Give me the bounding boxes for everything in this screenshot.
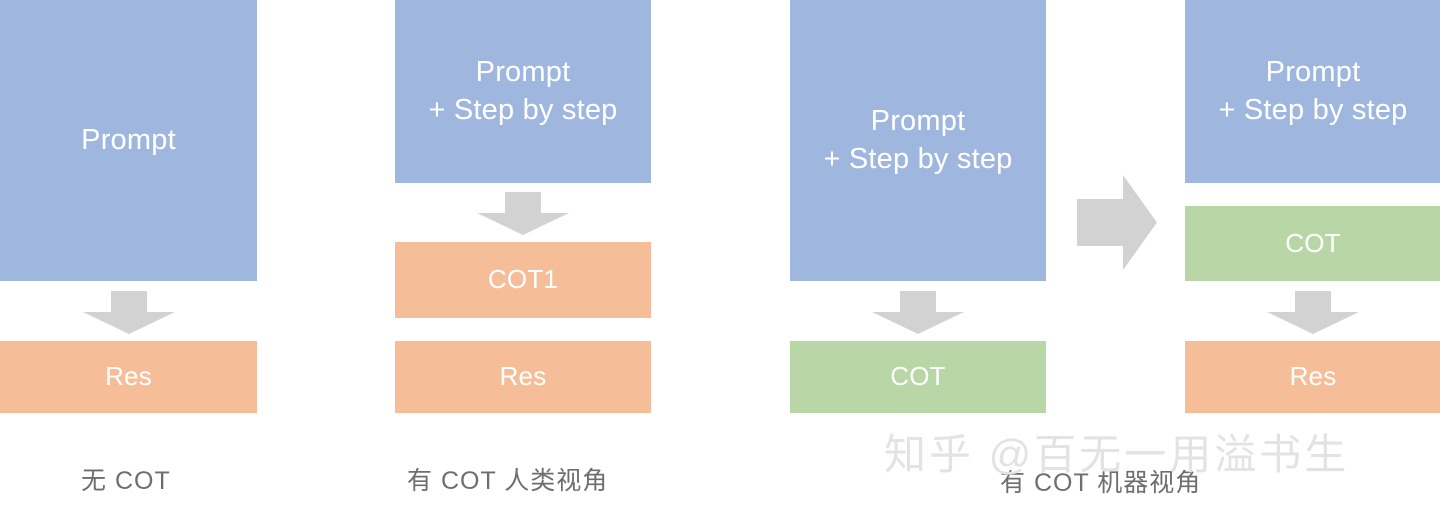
block-cot-machine-stage1-cot: COT [790,341,1046,413]
block-label: Prompt + Step by step [790,103,1046,177]
block-label: Res [0,360,257,393]
block-label: COT [790,360,1046,393]
arrow-cot-machine-stage1-prompt-to-cot [872,291,964,334]
block-cot-human-cot1: COT1 [395,242,651,318]
block-cot-human-prompt: Prompt + Step by step [395,0,651,183]
watermark-text: 知乎 @百无一用溢书生 [884,431,1349,478]
block-label: COT1 [395,263,651,296]
arrow-stage1-to-stage2 [1077,175,1157,270]
block-cot-machine-stage1-prompt: Prompt + Step by step [790,0,1046,281]
caption-text: 无 COT [81,467,171,495]
diagram-canvas: Prompt Res 无 COT Prompt + Step by step C… [0,0,1440,514]
block-cot-human-result: Res [395,341,651,413]
arrow-cot-human-prompt-to-cot1 [477,192,569,235]
caption-no-cot: 无 COT [81,461,171,497]
arrow-cot-machine-stage2-cot-to-result [1267,291,1359,334]
block-no-cot-prompt: Prompt [0,0,257,281]
block-label: Prompt [0,122,257,159]
block-label: COT [1185,227,1440,260]
block-cot-machine-stage2-cot: COT [1185,206,1440,281]
block-label: Res [395,360,651,393]
block-label: Prompt + Step by step [395,54,651,128]
caption-cot-human-view: 有 COT 人类视角 [407,461,608,497]
block-no-cot-result: Res [0,341,257,413]
block-label: Res [1185,360,1440,393]
block-cot-machine-stage2-prompt: Prompt + Step by step [1185,0,1440,183]
caption-text: 有 COT 人类视角 [407,467,608,495]
block-label: Prompt + Step by step [1185,54,1440,128]
block-cot-machine-stage2-result: Res [1185,341,1440,413]
arrow-no-cot-prompt-to-result [83,291,175,334]
zhihu-watermark: 知乎 @百无一用溢书生 [884,421,1349,482]
